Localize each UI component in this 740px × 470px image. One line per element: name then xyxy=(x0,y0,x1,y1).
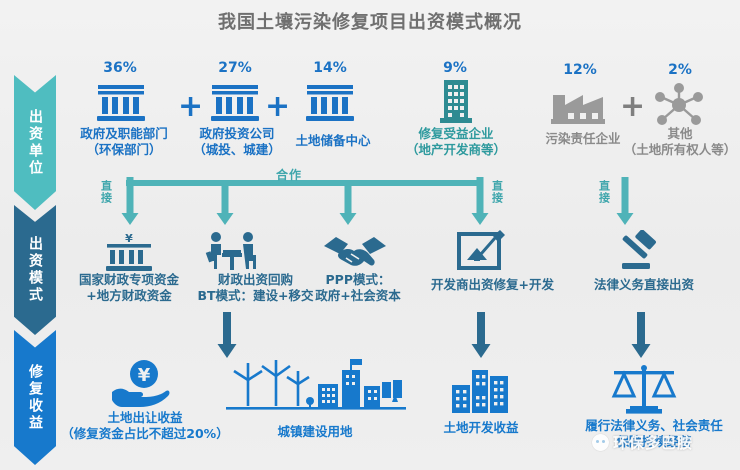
direct-label-left: 直接 xyxy=(100,180,112,204)
blueprint-house-icon xyxy=(455,228,509,278)
benefit-label-1: 城镇建设用地 xyxy=(240,424,390,440)
rail-label-restoration-benefit: 修复收益 xyxy=(28,364,42,432)
mode-label-0: 国家财政专项资金 +地方财政资金 xyxy=(63,272,195,303)
gavel-icon xyxy=(614,230,670,278)
scales-of-justice-icon xyxy=(608,362,680,420)
watermark: 环保多巴胺 xyxy=(592,432,693,453)
watermark-logo-icon xyxy=(592,434,609,451)
network-icon xyxy=(650,82,708,132)
benefit-label-0: 土地出让收益 （修复资金占比不超过20%） xyxy=(55,410,235,441)
plus-sign-1: + xyxy=(265,92,290,122)
arrow-down-benefit-1 xyxy=(470,312,492,362)
funder-percent-3: 9% xyxy=(420,60,490,76)
negotiation-table-icon xyxy=(203,230,261,278)
city-renewable-skyline-icon xyxy=(226,358,406,418)
funder-label-5: 其他 （土地所有权人等） xyxy=(620,126,740,157)
funder-percent-0: 36% xyxy=(85,60,155,76)
funder-percent-2: 14% xyxy=(295,60,365,76)
rail-stage-funding-mode: 出资模式 xyxy=(14,205,56,335)
infographic-canvas: 我国土壤污染修复项目出资模式概况 出资单位 出资模式 修复收益 36% 政府及职… xyxy=(0,0,740,470)
cooperation-label: 合作 xyxy=(276,166,302,183)
hand-yuan-coin-icon: ¥ xyxy=(110,358,170,414)
direct-label-right: 直接 xyxy=(598,180,610,204)
arrow-down-cooperation-2 xyxy=(338,182,358,229)
plus-sign-2: + xyxy=(620,92,645,122)
direct-label-middle: 直接 xyxy=(491,180,503,204)
arrow-down-benefit-0 xyxy=(216,312,238,362)
svg-text:¥: ¥ xyxy=(125,232,133,245)
rail-stage-restoration-benefit: 修复收益 xyxy=(14,330,56,465)
rail-stage-funding-unit: 出资单位 xyxy=(14,75,56,210)
funder-label-2: 土地储备中心 xyxy=(277,133,389,149)
buildings-icon xyxy=(448,365,514,419)
arrow-down-direct-right xyxy=(615,177,635,229)
mode-label-3: 开发商出资修复+开发 xyxy=(420,277,565,293)
cooperation-bar xyxy=(126,180,483,186)
bank-icon xyxy=(95,80,147,128)
factory-icon xyxy=(549,85,609,129)
office-building-icon xyxy=(436,78,476,130)
arrow-down-cooperation-0 xyxy=(120,177,140,229)
rail-label-funding-unit: 出资单位 xyxy=(28,109,42,177)
funder-percent-1: 27% xyxy=(200,60,270,76)
funder-label-3: 修复受益企业 （地产开发商等） xyxy=(395,126,517,157)
bank-icon xyxy=(209,80,261,128)
page-title: 我国土壤污染修复项目出资模式概况 xyxy=(0,8,740,34)
watermark-text: 环保多巴胺 xyxy=(613,432,693,453)
svg-text:¥: ¥ xyxy=(138,365,151,386)
bank-icon xyxy=(304,80,356,128)
arrow-down-benefit-2 xyxy=(630,312,652,362)
funder-percent-4: 12% xyxy=(545,62,615,78)
rail-label-funding-mode: 出资模式 xyxy=(28,236,42,304)
mode-label-2: PPP模式： 政府+社会资本 xyxy=(306,272,410,303)
plus-sign-0: + xyxy=(178,92,203,122)
funder-percent-5: 2% xyxy=(645,62,715,78)
funder-label-0: 政府及职能部门 （环保部门） xyxy=(68,126,180,157)
arrow-down-cooperation-3 xyxy=(470,177,490,229)
mode-label-4: 法律义务直接出资 xyxy=(570,277,718,293)
benefit-label-2: 土地开发收益 xyxy=(420,420,542,436)
arrow-down-cooperation-1 xyxy=(215,182,235,229)
